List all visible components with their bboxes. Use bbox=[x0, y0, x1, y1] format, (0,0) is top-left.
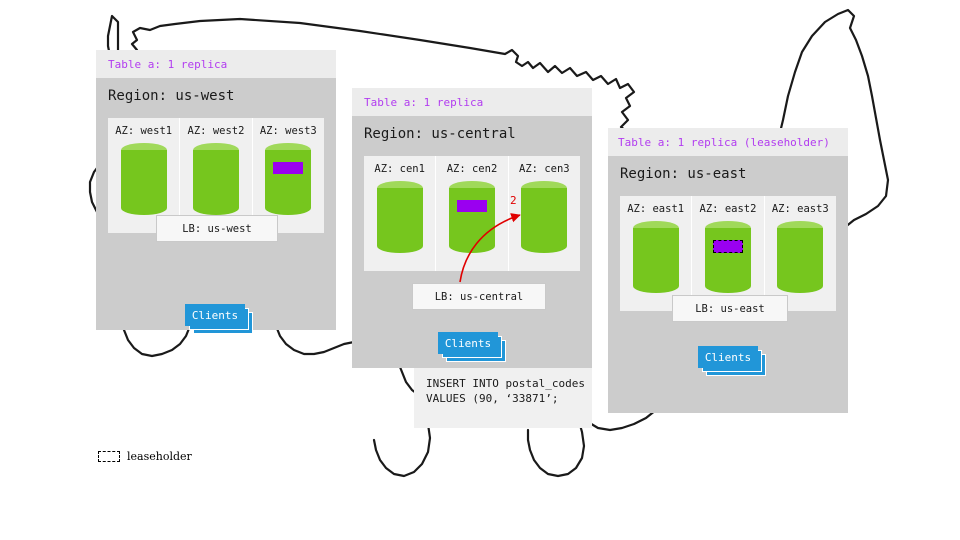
az-label: AZ: east1 bbox=[627, 203, 684, 215]
db-node-cylinder[interactable] bbox=[193, 143, 239, 215]
clients-stack-us-east[interactable]: Clients bbox=[698, 346, 770, 378]
replica-marker bbox=[457, 200, 487, 212]
region-panel-us-east: Table a: 1 replica (leaseholder) Region:… bbox=[608, 128, 848, 413]
table-replica-label: Table a: 1 replica bbox=[364, 96, 483, 109]
az-cell-cen1[interactable]: AZ: cen1 bbox=[364, 156, 435, 271]
clients-button[interactable]: Clients bbox=[438, 332, 498, 354]
cylinder-body bbox=[705, 228, 751, 286]
arrow-step-number: 2 bbox=[510, 194, 517, 207]
panel-body-us-central: Region: us-central AZ: cen1 AZ: cen2 bbox=[352, 116, 592, 368]
az-cell-east1[interactable]: AZ: east1 bbox=[620, 196, 691, 311]
clients-label: Clients bbox=[445, 337, 491, 350]
lb-label: LB: us-west bbox=[182, 223, 252, 235]
az-label: AZ: east2 bbox=[700, 203, 757, 215]
cylinder-body bbox=[121, 150, 167, 208]
db-node-cylinder[interactable] bbox=[633, 221, 679, 293]
clients-label: Clients bbox=[705, 351, 751, 364]
az-container-us-east: AZ: east1 AZ: east2 bbox=[620, 196, 836, 311]
clients-button[interactable]: Clients bbox=[185, 304, 245, 326]
clients-stack-us-west[interactable]: Clients bbox=[185, 304, 257, 336]
az-cell-east2[interactable]: AZ: east2 bbox=[691, 196, 763, 311]
panel-body-us-west: Region: us-west AZ: west1 AZ: west2 bbox=[96, 78, 336, 330]
az-cell-cen2[interactable]: AZ: cen2 bbox=[435, 156, 507, 271]
db-node-cylinder[interactable] bbox=[449, 181, 495, 253]
az-container-us-central: AZ: cen1 AZ: cen2 bbox=[364, 156, 580, 271]
cylinder-bottom bbox=[777, 279, 823, 293]
panel-header-us-central: Table a: 1 replica bbox=[352, 88, 592, 116]
legend-leaseholder: leaseholder bbox=[98, 450, 192, 463]
cylinder-bottom bbox=[633, 279, 679, 293]
db-node-cylinder[interactable] bbox=[377, 181, 423, 253]
cylinder-bottom bbox=[377, 239, 423, 253]
lb-label: LB: us-central bbox=[435, 291, 524, 303]
cylinder-body bbox=[193, 150, 239, 208]
cylinder-bottom bbox=[705, 279, 751, 293]
cylinder-body bbox=[265, 150, 311, 208]
legend-label: leaseholder bbox=[127, 450, 192, 463]
db-node-cylinder[interactable] bbox=[265, 143, 311, 215]
az-cell-cen3[interactable]: AZ: cen3 bbox=[508, 156, 580, 271]
db-node-cylinder[interactable] bbox=[705, 221, 751, 293]
region-title-us-east: Region: us-east bbox=[620, 166, 746, 182]
az-label: AZ: east3 bbox=[772, 203, 829, 215]
cylinder-body bbox=[777, 228, 823, 286]
az-label: AZ: cen1 bbox=[374, 163, 425, 175]
az-label: AZ: west1 bbox=[115, 125, 172, 137]
diagram-canvas: Table a: 1 replica Region: us-west AZ: w… bbox=[0, 0, 960, 540]
az-label: AZ: west2 bbox=[188, 125, 245, 137]
clients-stack-us-central[interactable]: Clients bbox=[438, 332, 510, 364]
az-label: AZ: cen2 bbox=[447, 163, 498, 175]
replica-marker-leaseholder bbox=[713, 240, 743, 253]
sql-statement-box: INSERT INTO postal_codes VALUES (90, ‘33… bbox=[414, 368, 592, 428]
db-node-cylinder[interactable] bbox=[121, 143, 167, 215]
cylinder-body bbox=[521, 188, 567, 246]
cylinder-bottom bbox=[121, 201, 167, 215]
panel-header-us-west: Table a: 1 replica bbox=[96, 50, 336, 78]
cylinder-bottom bbox=[449, 239, 495, 253]
cylinder-body bbox=[633, 228, 679, 286]
table-replica-label: Table a: 1 replica bbox=[108, 58, 227, 71]
clients-button[interactable]: Clients bbox=[698, 346, 758, 368]
db-node-cylinder[interactable] bbox=[521, 181, 567, 253]
lb-label: LB: us-east bbox=[695, 303, 765, 315]
az-label: AZ: cen3 bbox=[519, 163, 570, 175]
table-replica-label: Table a: 1 replica (leaseholder) bbox=[618, 136, 830, 149]
az-label: AZ: west3 bbox=[260, 125, 317, 137]
cylinder-bottom bbox=[265, 201, 311, 215]
db-node-cylinder[interactable] bbox=[777, 221, 823, 293]
load-balancer-us-west[interactable]: LB: us-west bbox=[156, 215, 278, 242]
cylinder-body bbox=[377, 188, 423, 246]
cylinder-body bbox=[449, 188, 495, 246]
load-balancer-us-east[interactable]: LB: us-east bbox=[672, 295, 788, 322]
panel-body-us-east: Region: us-east AZ: east1 AZ: east2 bbox=[608, 156, 848, 413]
az-cell-east3[interactable]: AZ: east3 bbox=[764, 196, 836, 311]
region-panel-us-central: Table a: 1 replica Region: us-central AZ… bbox=[352, 88, 592, 428]
replica-marker bbox=[273, 162, 303, 174]
clients-label: Clients bbox=[192, 309, 238, 322]
load-balancer-us-central[interactable]: LB: us-central bbox=[412, 283, 546, 310]
dashed-box-icon bbox=[98, 451, 120, 462]
panel-header-us-east: Table a: 1 replica (leaseholder) bbox=[608, 128, 848, 156]
region-panel-us-west: Table a: 1 replica Region: us-west AZ: w… bbox=[96, 50, 336, 330]
region-title-us-central: Region: us-central bbox=[364, 126, 516, 142]
cylinder-bottom bbox=[521, 239, 567, 253]
region-title-us-west: Region: us-west bbox=[108, 88, 234, 104]
cylinder-bottom bbox=[193, 201, 239, 215]
